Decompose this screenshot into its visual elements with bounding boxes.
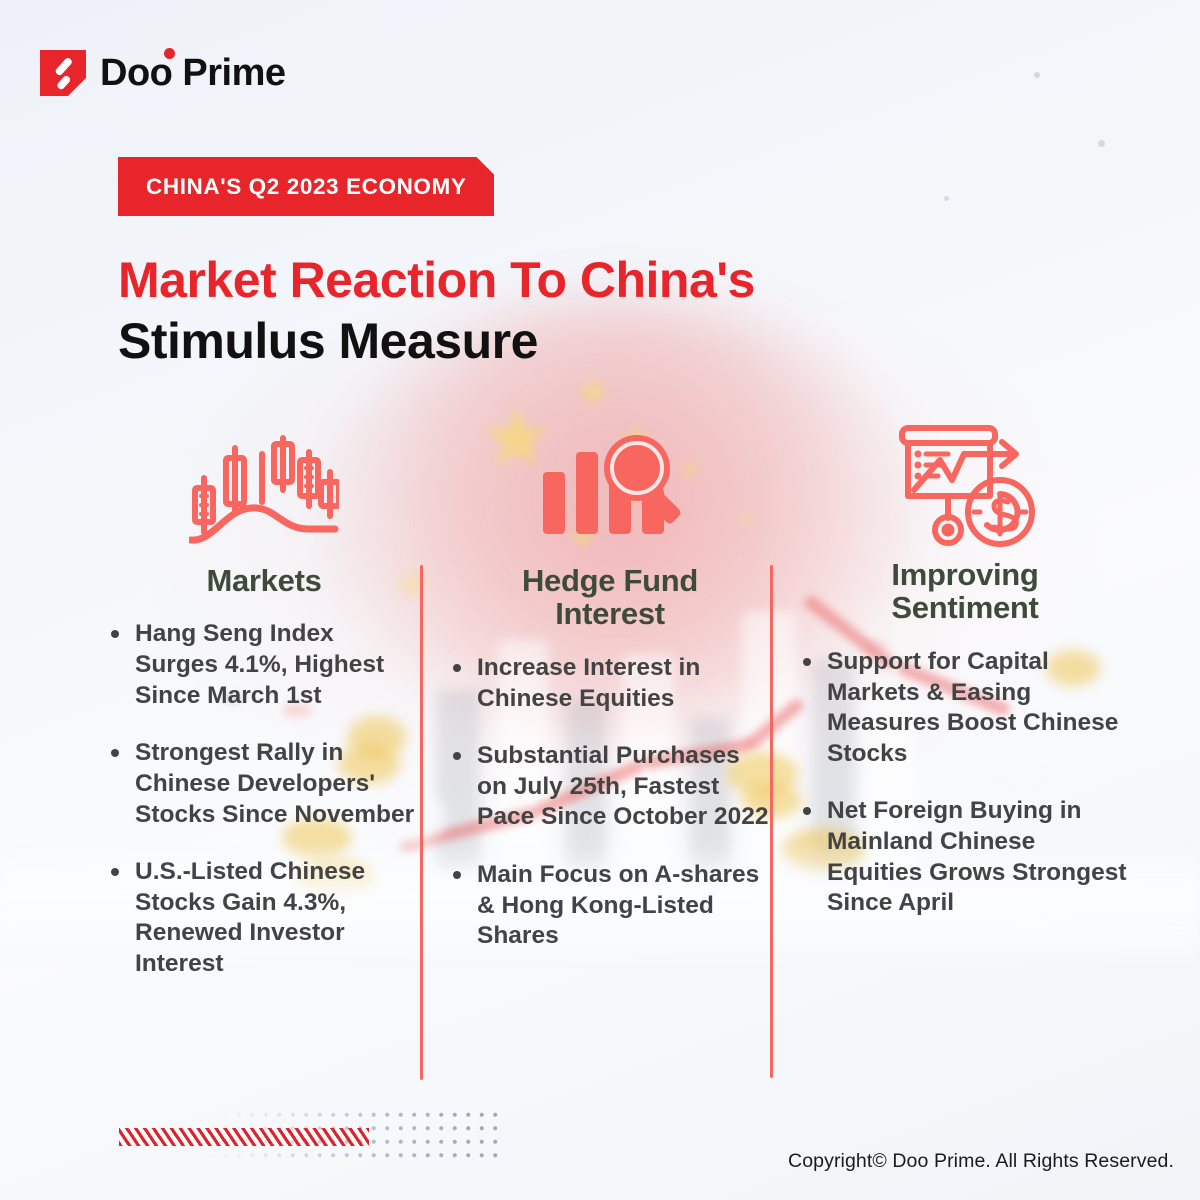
brand-logo-dot-icon [164,48,175,59]
category-badge: CHINA'S Q2 2023 ECONOMY [118,157,494,216]
list-item: Hang Seng Index Surges 4.1%, Highest Sin… [108,619,420,711]
doo-prime-square-mark-icon [40,50,86,96]
bg-dot-f [944,196,949,201]
bullet-list-hedge-fund-interest: Increase Interest in Chinese Equities Su… [450,653,770,952]
page-title: Market Reaction To China's Stimulus Meas… [118,250,918,372]
column-improving-sentiment: Improving Sentiment Support for Capital … [800,420,1130,946]
column-title-line2: Interest [555,596,665,631]
brand-logo-text: Doo Prime [100,52,286,95]
page-title-line2: Stimulus Measure [118,311,918,372]
column-hedge-fund-interest: Hedge Fund Interest Increase Interest in… [450,420,770,979]
presentation-board-dollar-icon [800,420,1130,550]
decorative-stripe-band [119,1128,369,1146]
column-title-hedge-fund-interest: Hedge Fund Interest [450,564,770,631]
bg-dot-e [1098,140,1105,147]
column-title-line2: Sentiment [891,590,1038,625]
flag-star-2: ★ [575,372,611,412]
list-item: U.S.-Listed Chinese Stocks Gain 4.3%, Re… [108,857,420,980]
bar-chart-magnifier-icon [450,420,770,550]
page-title-line1: Market Reaction To China's [118,250,918,311]
list-item: Substantial Purchases on July 25th, Fast… [450,741,770,833]
bullet-list-improving-sentiment: Support for Capital Markets & Easing Mea… [800,647,1130,919]
column-markets: Markets Hang Seng Index Surges 4.1%, Hig… [108,420,420,1007]
list-item: Net Foreign Buying in Mainland Chinese E… [800,796,1130,919]
column-title-line1: Improving [891,557,1038,592]
copyright-text: Copyright© Doo Prime. All Rights Reserve… [788,1150,1174,1173]
list-item: Support for Capital Markets & Easing Mea… [800,647,1130,770]
columns-container: Markets Hang Seng Index Surges 4.1%, Hig… [0,420,1200,1100]
brand-logo[interactable]: Doo Prime [40,50,286,96]
column-title-markets: Markets [108,564,420,597]
column-title-improving-sentiment: Improving Sentiment [800,558,1130,625]
list-item: Strongest Rally in Chinese Developers' S… [108,738,420,830]
candlestick-chart-icon [108,420,420,550]
column-title-line1: Hedge Fund [522,563,698,598]
infographic-canvas: ★ ★ ★ ★ ★ ★ ★ ★ Doo Prime [0,0,1200,1200]
bg-dot-d [1034,72,1040,78]
list-item: Increase Interest in Chinese Equities [450,653,770,714]
list-item: Main Focus on A-shares & Hong Kong-Liste… [450,860,770,952]
bullet-list-markets: Hang Seng Index Surges 4.1%, Highest Sin… [108,619,420,979]
